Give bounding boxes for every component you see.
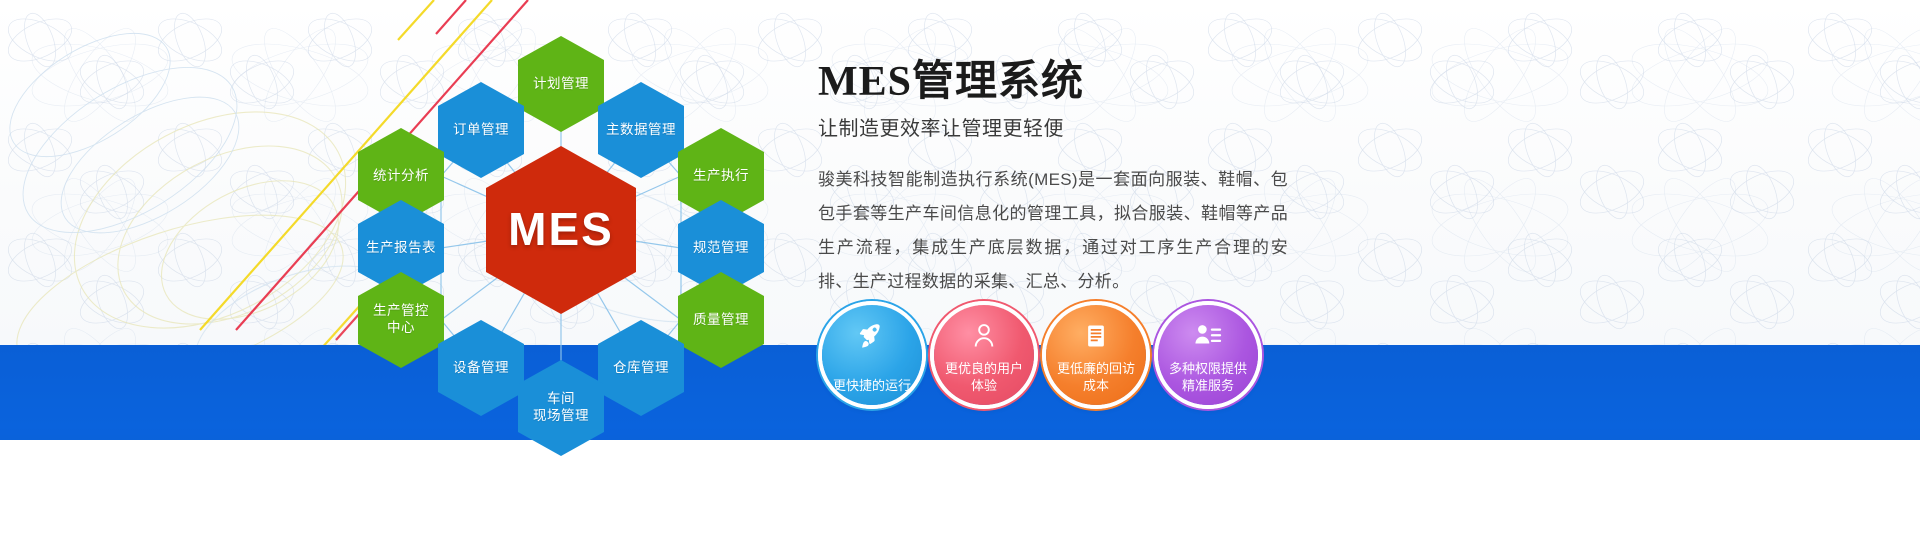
user-icon <box>967 319 1001 353</box>
hex-label: 订单管理 <box>453 122 509 139</box>
hex-label: 仓库管理 <box>613 360 669 377</box>
hex-label: 车间现场管理 <box>533 391 589 425</box>
page-subtitle: 让制造更效率让管理更轻便 <box>818 112 1358 141</box>
hex-label: 生产管控中心 <box>373 303 429 337</box>
copy-block: MES管理系统 让制造更效率让管理更轻便 骏美科技智能制造执行系统(MES)是一… <box>818 58 1358 299</box>
bottom-white-strip <box>0 440 1920 550</box>
badge-lower-revisit-cost[interactable]: 更低廉的回访成本 <box>1046 305 1146 405</box>
badge-better-user-experience[interactable]: 更优良的用户体验 <box>934 305 1034 405</box>
badge-label: 更优良的用户体验 <box>938 361 1030 395</box>
hex-label: 统计分析 <box>373 168 429 185</box>
mes-banner: 计划管理 订单管理 主数据管理 统计分析 生产执行 生产报告表 规范管理 生产管… <box>0 0 1920 550</box>
badge-label: 更低廉的回访成本 <box>1050 361 1142 395</box>
badge-multi-permission-service[interactable]: 多种权限提供精准服务 <box>1158 305 1258 405</box>
hex-label: 生产报告表 <box>366 240 436 257</box>
badge-label: 更快捷的运行 <box>826 378 918 395</box>
user-list-icon <box>1191 319 1225 353</box>
hex-label: 主数据管理 <box>606 122 676 139</box>
hex-label: 规范管理 <box>693 240 749 257</box>
feature-badges: 更快捷的运行 更优良的用户体验 <box>822 305 1258 405</box>
core-label: MES <box>508 201 614 259</box>
badge-label: 多种权限提供精准服务 <box>1162 361 1254 395</box>
hex-label: 计划管理 <box>533 76 589 93</box>
hex-label: 生产执行 <box>693 168 749 185</box>
description-paragraph: 骏美科技智能制造执行系统(MES)是一套面向服装、鞋帽、包包手套等生产车间信息化… <box>818 163 1288 299</box>
rocket-icon <box>855 319 889 353</box>
document-icon <box>1079 319 1113 353</box>
badge-faster-operation[interactable]: 更快捷的运行 <box>822 305 922 405</box>
hex-label: 设备管理 <box>453 360 509 377</box>
mes-hex-diagram: 计划管理 订单管理 主数据管理 统计分析 生产执行 生产报告表 规范管理 生产管… <box>330 20 790 440</box>
page-title: MES管理系统 <box>818 58 1358 106</box>
hex-label: 质量管理 <box>693 312 749 329</box>
